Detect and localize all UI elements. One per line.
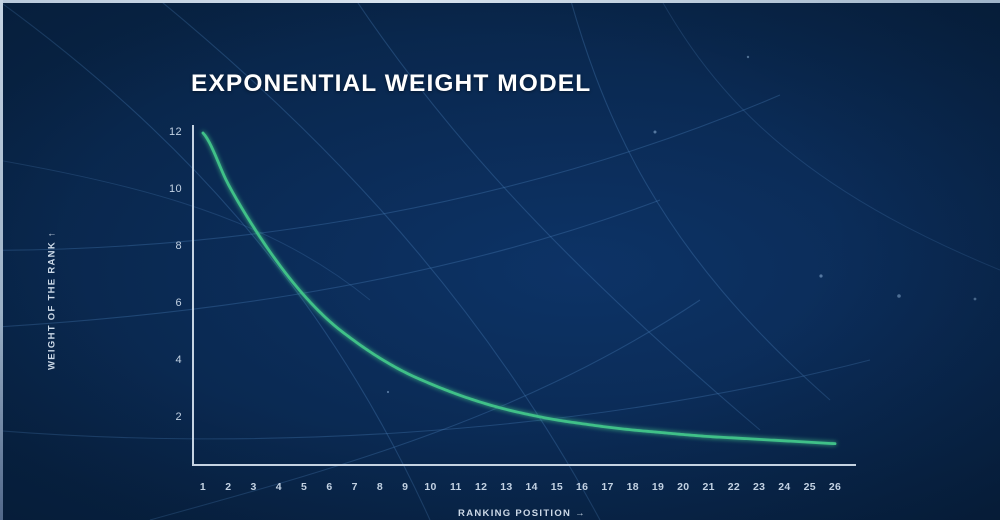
x-axis-title: RANKING POSITION →	[392, 508, 652, 519]
slide-canvas: EXPONENTIAL WEIGHT MODEL 24681012 123456…	[0, 0, 1000, 520]
exponential-weight-curve	[0, 0, 1000, 520]
series-line-exponential-weight	[203, 133, 835, 444]
y-axis-title: WEIGHT OF THE RANK ↑	[47, 201, 58, 401]
chart-plot-area: 24681012 1234567891011121314151617181920…	[0, 0, 1000, 520]
